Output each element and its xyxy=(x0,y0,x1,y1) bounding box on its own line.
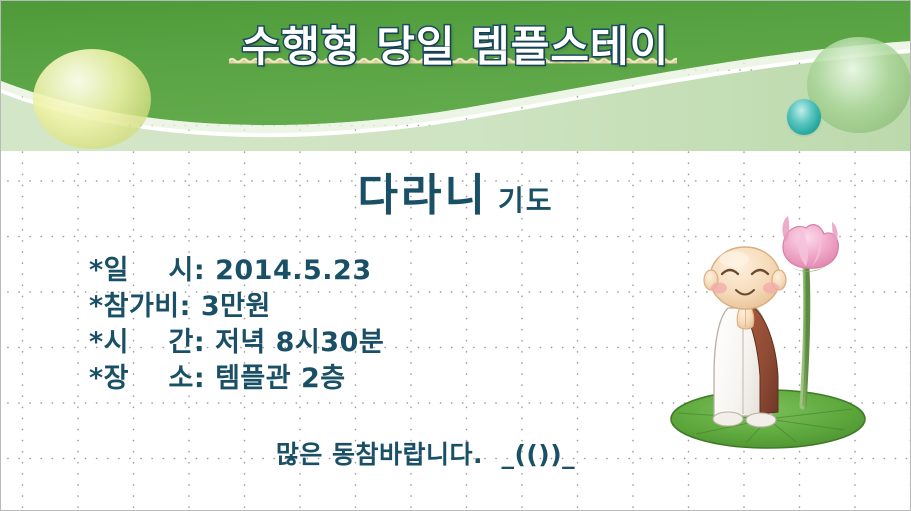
detail-row-date: *일 시: 2014.5.23 xyxy=(89,253,384,289)
event-heading-primary: 다라니 xyxy=(358,170,488,221)
detail-row-time: *시 간: 저녁 8시30분 xyxy=(89,325,384,361)
poster-canvas: 수행형 당일 템플스테이 다라니기도 *일 시: 2014.5.23 *참가비:… xyxy=(0,0,911,511)
praying-monk-illustration xyxy=(656,206,891,456)
event-heading-secondary: 기도 xyxy=(498,184,554,217)
detail-row-fee: *참가비: 3만원 xyxy=(89,289,384,325)
event-details-list: *일 시: 2014.5.23 *참가비: 3만원 *시 간: 저녁 8시30분… xyxy=(89,253,384,397)
detail-row-place: *장 소: 템플관 2층 xyxy=(89,361,384,397)
